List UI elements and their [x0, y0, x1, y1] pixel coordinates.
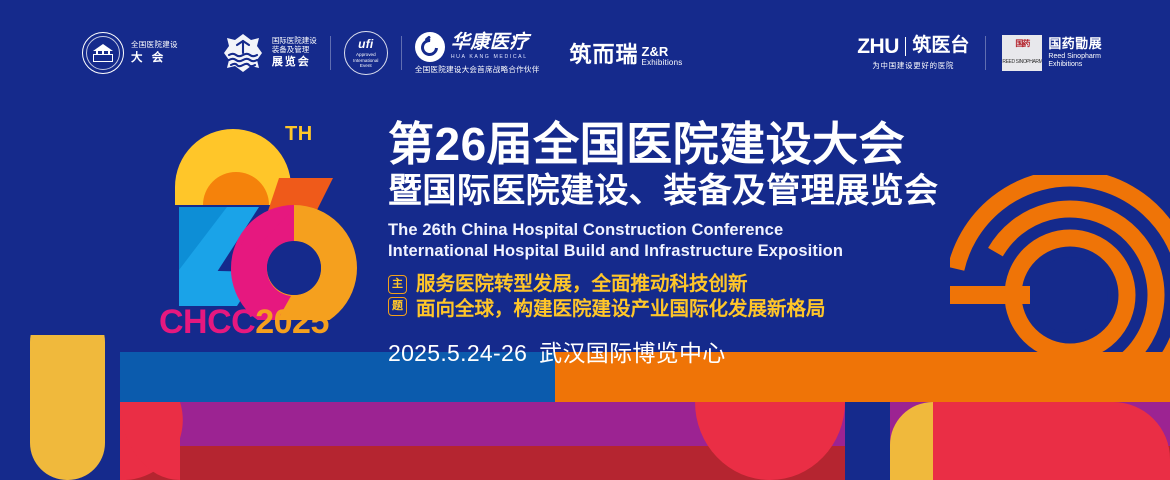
house-glyph-icon [92, 43, 114, 63]
huakang-swirl-icon [415, 32, 445, 62]
zhuyitai-mark: ZHU [857, 35, 899, 58]
logo-zhurui-zr[interactable]: 筑而瑞 Z&R Exhibitions [570, 37, 683, 69]
logo-zhuyitai[interactable]: ZHU 筑医台 为中国建设更好的医院 [857, 35, 969, 70]
zhurui-name-cn: 筑而瑞 [570, 37, 639, 69]
theme-badge-2: 题 [388, 297, 407, 316]
ufi-mark-text: ufi [358, 37, 373, 51]
theme-badge-1: 主 [388, 275, 407, 294]
logo-26-superscript: TH [285, 123, 313, 146]
zhurui-name-en-2: Exhibitions [642, 59, 683, 67]
logo-huakang-medical[interactable]: 华康医疗 HUA KANG MEDICAL 全国医院建设大会首席战略合作伙伴 [415, 32, 540, 74]
reed-sinopharm-stamp-icon: 国药 REED SINOPHARM [1002, 35, 1042, 71]
reed-name-en-2: Exhibitions [1048, 61, 1102, 69]
theme-section: 主 题 服务医院转型发展，全面推动科技创新 面向全球，构建医院建设产业国际化发展… [388, 274, 928, 320]
event-banner: 全国医院建设 大 会 [0, 0, 1170, 480]
page-title-cn-1: 第26届全国医院建设大会 [388, 120, 928, 169]
zhuyitai-divider [905, 37, 907, 56]
logo-reed-sinopharm[interactable]: 国药 REED SINOPHARM 国药勖展 Reed Sinopharm Ex… [1002, 35, 1102, 71]
chcc-conference-line1: 全国医院建设 [131, 41, 178, 49]
logo-chcc-conference[interactable]: 全国医院建设 大 会 [82, 32, 178, 74]
chcc-conference-line2: 大 会 [131, 52, 178, 65]
chcc-wordmark-prefix: CHCC [159, 303, 255, 341]
zhurui-name-en-1: Z&R [642, 45, 683, 59]
theme-line-1: 服务医院转型发展，全面推动科技创新 [416, 274, 826, 295]
page-title-en-1: The 26th China Hospital Construction Con… [388, 220, 928, 241]
ufi-sub1: Approved [353, 52, 378, 58]
huakang-name-en: HUA KANG MEDICAL [451, 55, 529, 60]
logo-divider-3 [985, 36, 986, 70]
theme-badge-group: 主 题 [388, 274, 407, 320]
reed-stamp-cn: 国药 [1002, 35, 1042, 52]
logo-divider-1 [330, 36, 331, 70]
zhuyitai-name-cn: 筑医台 [912, 36, 969, 57]
page-title-en: The 26th China Hospital Construction Con… [388, 220, 928, 262]
main-text-block: 第26届全国医院建设大会 暨国际医院建设、装备及管理展览会 The 26th C… [388, 120, 928, 368]
logo-group-left: 全国医院建设 大 会 [82, 22, 682, 84]
event-date-venue: 2025.5.24-26武汉国际博览中心 [388, 334, 928, 368]
event-venue: 武汉国际博览中心 [539, 340, 725, 366]
chcc-wordmark-year: 2025 [255, 303, 329, 341]
reed-name-cn: 国药勖展 [1048, 37, 1102, 52]
logo-exhibition[interactable]: 国际医院建设 装备及管理 展览会 [221, 31, 317, 75]
chcc-26-numeral-logo [155, 110, 365, 320]
theme-line-2: 面向全球，构建医院建设产业国际化发展新格局 [416, 299, 826, 320]
exhibition-line2: 装备及管理 [272, 45, 317, 54]
zhuyitai-tagline: 为中国建设更好的医院 [857, 62, 969, 70]
theme-line-group: 服务医院转型发展，全面推动科技创新 面向全球，构建医院建设产业国际化发展新格局 [416, 274, 826, 320]
reed-stamp-sub: REED SINOPHARM [1002, 52, 1042, 71]
event-date: 2025.5.24-26 [388, 340, 527, 366]
exhibition-line3: 展览会 [272, 56, 317, 69]
partner-logo-bar: 全国医院建设 大 会 [0, 22, 1170, 84]
page-title-cn-2: 暨国际医院建设、装备及管理展览会 [388, 171, 928, 211]
chcc-wordmark: CHCC2025 [159, 303, 329, 342]
exhibition-text: 国际医院建设 装备及管理 展览会 [272, 36, 317, 69]
reed-name-en-1: Reed Sinopharm [1048, 53, 1102, 61]
page-title-en-2: International Hospital Build and Infrast… [388, 241, 928, 262]
ufi-circle-icon: ufi Approved International Event [344, 31, 388, 75]
huakang-name-cn: 华康医疗 [451, 33, 529, 53]
huakang-tagline: 全国医院建设大会首席战略合作伙伴 [415, 66, 540, 74]
chcc-conference-text: 全国医院建设 大 会 [131, 41, 178, 64]
logo-ufi[interactable]: ufi Approved International Event [344, 31, 388, 75]
logo-divider-2 [401, 36, 402, 70]
chcc-circle-emblem-icon [82, 32, 124, 74]
logo-group-right: ZHU 筑医台 为中国建设更好的医院 国药 REED SINOPHARM 国药勖… [857, 22, 1102, 84]
snowflake-exhibition-icon [221, 31, 265, 75]
ufi-sub3: Event [353, 63, 378, 69]
